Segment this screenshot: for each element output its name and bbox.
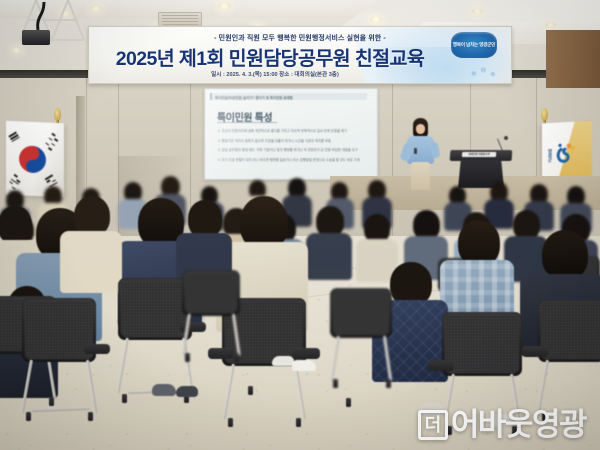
- downlight: [90, 5, 102, 12]
- chair-leg: [383, 336, 392, 382]
- watermark-badge: 더: [418, 410, 448, 440]
- podium-nameplate: 영광군청 민원봉사과: [462, 152, 496, 157]
- chair-foot: [333, 379, 338, 388]
- podium-nameplate-text: 영광군청 민원봉사과: [462, 152, 496, 157]
- chair-leg: [294, 364, 306, 420]
- chair-backrest: [182, 270, 240, 316]
- watermark-text: 어바웃영광: [451, 409, 586, 440]
- event-banner: - 민원인과 직원 모두 행복한 민원행정서비스 실현을 위한 - 2025년 …: [88, 26, 512, 84]
- chair-backrest: [330, 288, 392, 338]
- downlight: [545, 22, 556, 28]
- banner-logo-badge: 행복이 넘치는 영광군민: [451, 32, 497, 58]
- chair-leg: [86, 360, 97, 414]
- photo-scene: - 민원인과 직원 모두 행복한 민원행정서비스 실현을 위한 - 2025년 …: [0, 0, 600, 450]
- downlight: [472, 8, 483, 14]
- chair-foot: [185, 353, 190, 362]
- chair-leg: [232, 314, 241, 356]
- air-vent: [158, 12, 202, 27]
- county-emblem-label: 영광군: [547, 149, 553, 162]
- chair-leg: [116, 338, 129, 394]
- wall-wood-panel: [546, 30, 600, 88]
- chair-armrest: [522, 346, 548, 357]
- chair-leg: [21, 360, 33, 414]
- chair: [182, 270, 240, 362]
- chair-armrest: [292, 348, 320, 359]
- chair-armrest: [428, 360, 454, 371]
- banner-info-line: 일시 : 2025. 4. 3.(목) 15:00 장소 : 대회의실(본관 3…: [89, 70, 461, 78]
- chair-rail: [32, 407, 90, 412]
- audience-person: [60, 196, 122, 292]
- county-emblem-mark: [556, 142, 576, 165]
- downlight: [370, 16, 382, 23]
- podium-mic-head: [504, 136, 508, 140]
- chair: [538, 300, 600, 422]
- chair-foot: [386, 379, 391, 388]
- banner-title: 2025년 제1회 민원담당공무원 친절교육: [89, 42, 451, 71]
- watermark-badge-char: 더: [425, 416, 442, 434]
- chair-leg: [181, 314, 191, 356]
- chair-foot: [228, 418, 233, 427]
- chair-foot: [234, 353, 239, 362]
- person-head: [542, 230, 588, 280]
- chair-foot: [26, 412, 31, 421]
- chair: [330, 288, 392, 388]
- chair-leg: [330, 336, 340, 382]
- presenter: [404, 118, 438, 190]
- presenter-face: [416, 124, 425, 134]
- chair-backrest: [442, 312, 522, 376]
- downlight: [218, 2, 231, 10]
- chair-armrest: [84, 344, 110, 354]
- podium-top: 영광군청 민원봉사과: [450, 150, 513, 161]
- projection-screen: 특이민원(악성민원) 늘리기? 줄이기 및 특이민원 응대법 특이민원 특성 1…: [204, 88, 378, 180]
- chair-foot: [296, 418, 301, 427]
- presenter-microphone: [414, 148, 417, 154]
- audience-person: [306, 206, 352, 278]
- banner-logo-dots: [467, 65, 501, 79]
- chair-leg: [222, 364, 235, 420]
- ceiling-projector: [22, 30, 50, 45]
- presenter-pants: [411, 162, 430, 190]
- chair-foot: [88, 412, 93, 421]
- screen-glare: [204, 88, 335, 180]
- chair-leg: [537, 360, 549, 414]
- chair-foot: [122, 394, 127, 403]
- banner-logo-text: 행복이 넘치는 영광군민: [453, 42, 495, 48]
- chair: [22, 298, 96, 422]
- watermark: 더 어바웃영광: [418, 409, 586, 440]
